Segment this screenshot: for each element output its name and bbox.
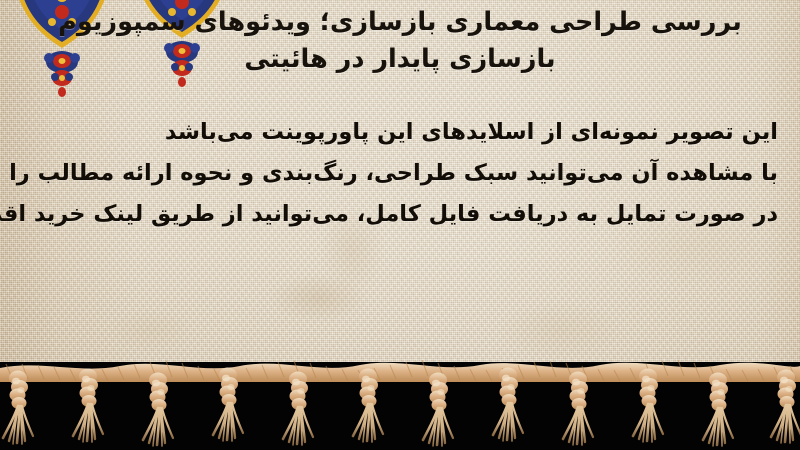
slide-title: بررسی طراحی معماری بازسازی؛ ویدئوهای سمپ… <box>0 4 800 78</box>
body-line-3: در صورت تمایل به دریافت فایل کامل، می‌تو… <box>18 194 778 235</box>
black-field <box>0 362 800 450</box>
body-line-2: با مشاهده آن می‌توانید سبک طراحی، رنگ‌بن… <box>18 153 778 194</box>
slide-body: این تصویر نمونه‌ای از اسلایدهای این پاور… <box>18 112 778 235</box>
slide-canvas: بررسی طراحی معماری بازسازی؛ ویدئوهای سمپ… <box>0 0 800 450</box>
body-line-1: این تصویر نمونه‌ای از اسلایدهای این پاور… <box>18 112 778 153</box>
title-line-2: بازسازی پایدار در هائیتی <box>0 41 800 78</box>
title-line-1: بررسی طراحی معماری بازسازی؛ ویدئوهای سمپ… <box>0 4 800 41</box>
